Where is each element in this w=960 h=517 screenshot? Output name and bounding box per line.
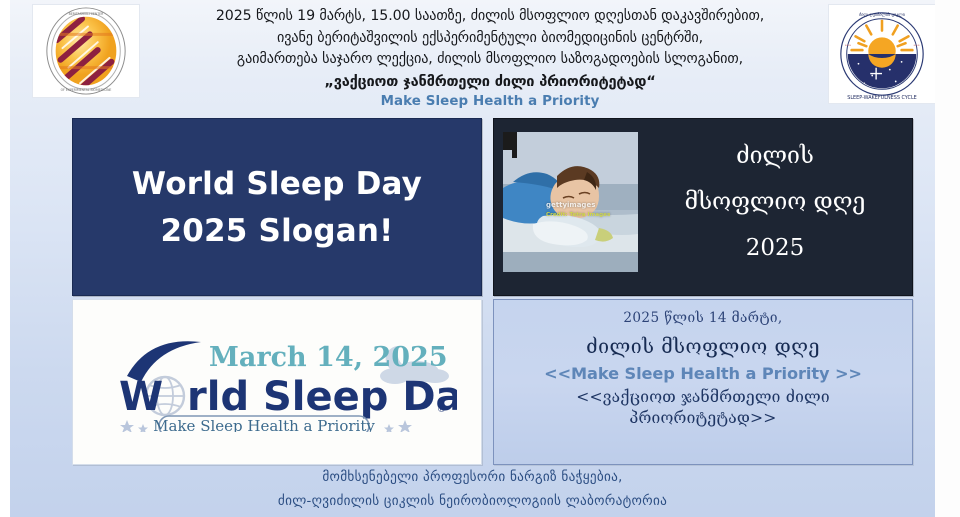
svg-text:≈≈≈: ≈≈≈ xyxy=(845,44,851,47)
beritashvili-center-logo-graphic: BERITASHVILI CENTER OF EXPERIMENTAL BIOM… xyxy=(33,5,139,97)
world-sleep-day-date: March 14, 2025 xyxy=(209,342,448,373)
info-slogan-ka-part-1: <<ვაქციოთ ჯანმრთელი ძილი xyxy=(576,388,830,406)
sleep-wakefulness-cycle-logo: ≈≈≈≈≈≈ ძილ-ღვიძილის ციკლი SLEEP-WAKEFULN… xyxy=(828,4,935,104)
beritashvili-center-logo: BERITASHVILI CENTER OF EXPERIMENTAL BIOM… xyxy=(32,4,140,98)
announcement-line-2: ივანე ბერიტაშვილის ექსპერიმენტული ბიომედ… xyxy=(160,28,820,50)
announcement-slogan-ka: „ვაქციოთ ჯანმრთელი ძილი პრიორიტეტად“ xyxy=(160,71,820,93)
world-sleep-day-brand-rest: rld Sleep Day xyxy=(187,374,457,420)
info-title-line: ძილის მსოფლიო დღე xyxy=(494,335,912,358)
announcement-line-3: გაიმართება საჯარო ლექცია, ძილის მსოფლიო … xyxy=(160,49,820,71)
svg-text:BERITASHVILI CENTER: BERITASHVILI CENTER xyxy=(69,12,104,16)
info-panel: 2025 წლის 14 მარტი, ძილის მსოფლიო დღე <<… xyxy=(493,299,913,465)
info-date-line: 2025 წლის 14 მარტი, xyxy=(494,310,912,326)
announcement-slogan-en: Make Sleep Health a Priority xyxy=(160,94,820,109)
photo-credit-line-1: gettyimages xyxy=(546,201,595,209)
svg-text:SLEEP-WAKEFULNESS CYCLE: SLEEP-WAKEFULNESS CYCLE xyxy=(847,95,917,101)
info-slogan-ka-part-2: პრიორიტეტად>> xyxy=(629,409,776,427)
slogan-panel: World Sleep Day 2025 Slogan! xyxy=(72,118,482,296)
star-decor-right xyxy=(384,420,412,432)
info-slogan-ka: <<ვაქციოთ ჯანმრთელი ძილი პრიორიტეტად>> xyxy=(494,387,912,429)
slide-right-margin xyxy=(935,0,960,517)
world-sleep-day-logo: March 14, 2025 W rld Sleep Day ® Make Sl… xyxy=(99,332,457,432)
world-sleep-day-logo-graphic: March 14, 2025 W rld Sleep Day ® Make Sl… xyxy=(99,332,457,432)
presentation-slide: BERITASHVILI CENTER OF EXPERIMENTAL BIOM… xyxy=(10,0,935,517)
world-sleep-day-brand-w: W xyxy=(119,374,163,420)
photo-title-line-2: მსოფლიო დღე xyxy=(646,179,904,225)
photo-panel-title: ძილის მსოფლიო დღე 2025 xyxy=(646,133,904,271)
photo-credit: gettyimages Credit: Tetra Images xyxy=(546,201,610,219)
slogan-line-1: World Sleep Day xyxy=(73,161,481,208)
registered-mark: ® xyxy=(437,405,446,415)
footer: მომხსენებელი პროფესორი ნარგიზ ნაჭყებია, … xyxy=(10,466,935,514)
slogan-panel-text: World Sleep Day 2025 Slogan! xyxy=(73,161,481,255)
world-sleep-day-logo-panel: March 14, 2025 W rld Sleep Day ® Make Sl… xyxy=(72,299,482,465)
slogan-line-2: 2025 Slogan! xyxy=(73,208,481,255)
announcement-text: 2025 წლის 19 მარტს, 15.00 საათზე, ძილის … xyxy=(160,6,820,92)
photo-credit-line-2: Credit: Tetra Images xyxy=(546,212,610,218)
photo-title-line-3: 2025 xyxy=(646,225,904,271)
info-slogan-en: <<Make Sleep Health a Priority >> xyxy=(494,364,912,383)
announcement-line-1: 2025 წლის 19 მარტს, 15.00 საათზე, ძილის … xyxy=(160,6,820,28)
svg-text:ძილ-ღვიძილის ციკლი: ძილ-ღვიძილის ციკლი xyxy=(859,12,905,17)
sleep-wakefulness-cycle-logo-graphic: ≈≈≈≈≈≈ ძილ-ღვიძილის ციკლი SLEEP-WAKEFULN… xyxy=(829,5,935,103)
footer-line-1: მომხსენებელი პროფესორი ნარგიზ ნაჭყებია, xyxy=(10,466,935,490)
world-sleep-day-tagline: Make Sleep Health a Priority xyxy=(153,417,375,432)
svg-text:OF EXPERIMENTAL BIOMEDICINE: OF EXPERIMENTAL BIOMEDICINE xyxy=(61,88,112,92)
photo-title-line-1: ძილის xyxy=(646,133,904,179)
photo-panel: gettyimages Credit: Tetra Images ძილის მ… xyxy=(493,118,913,296)
svg-text:≈≈≈: ≈≈≈ xyxy=(913,44,919,47)
star-decor-left xyxy=(120,420,148,432)
footer-line-2: ძილ-ღვიძილის ციკლის ნეირობიოლოგიის ლაბორ… xyxy=(10,490,935,514)
